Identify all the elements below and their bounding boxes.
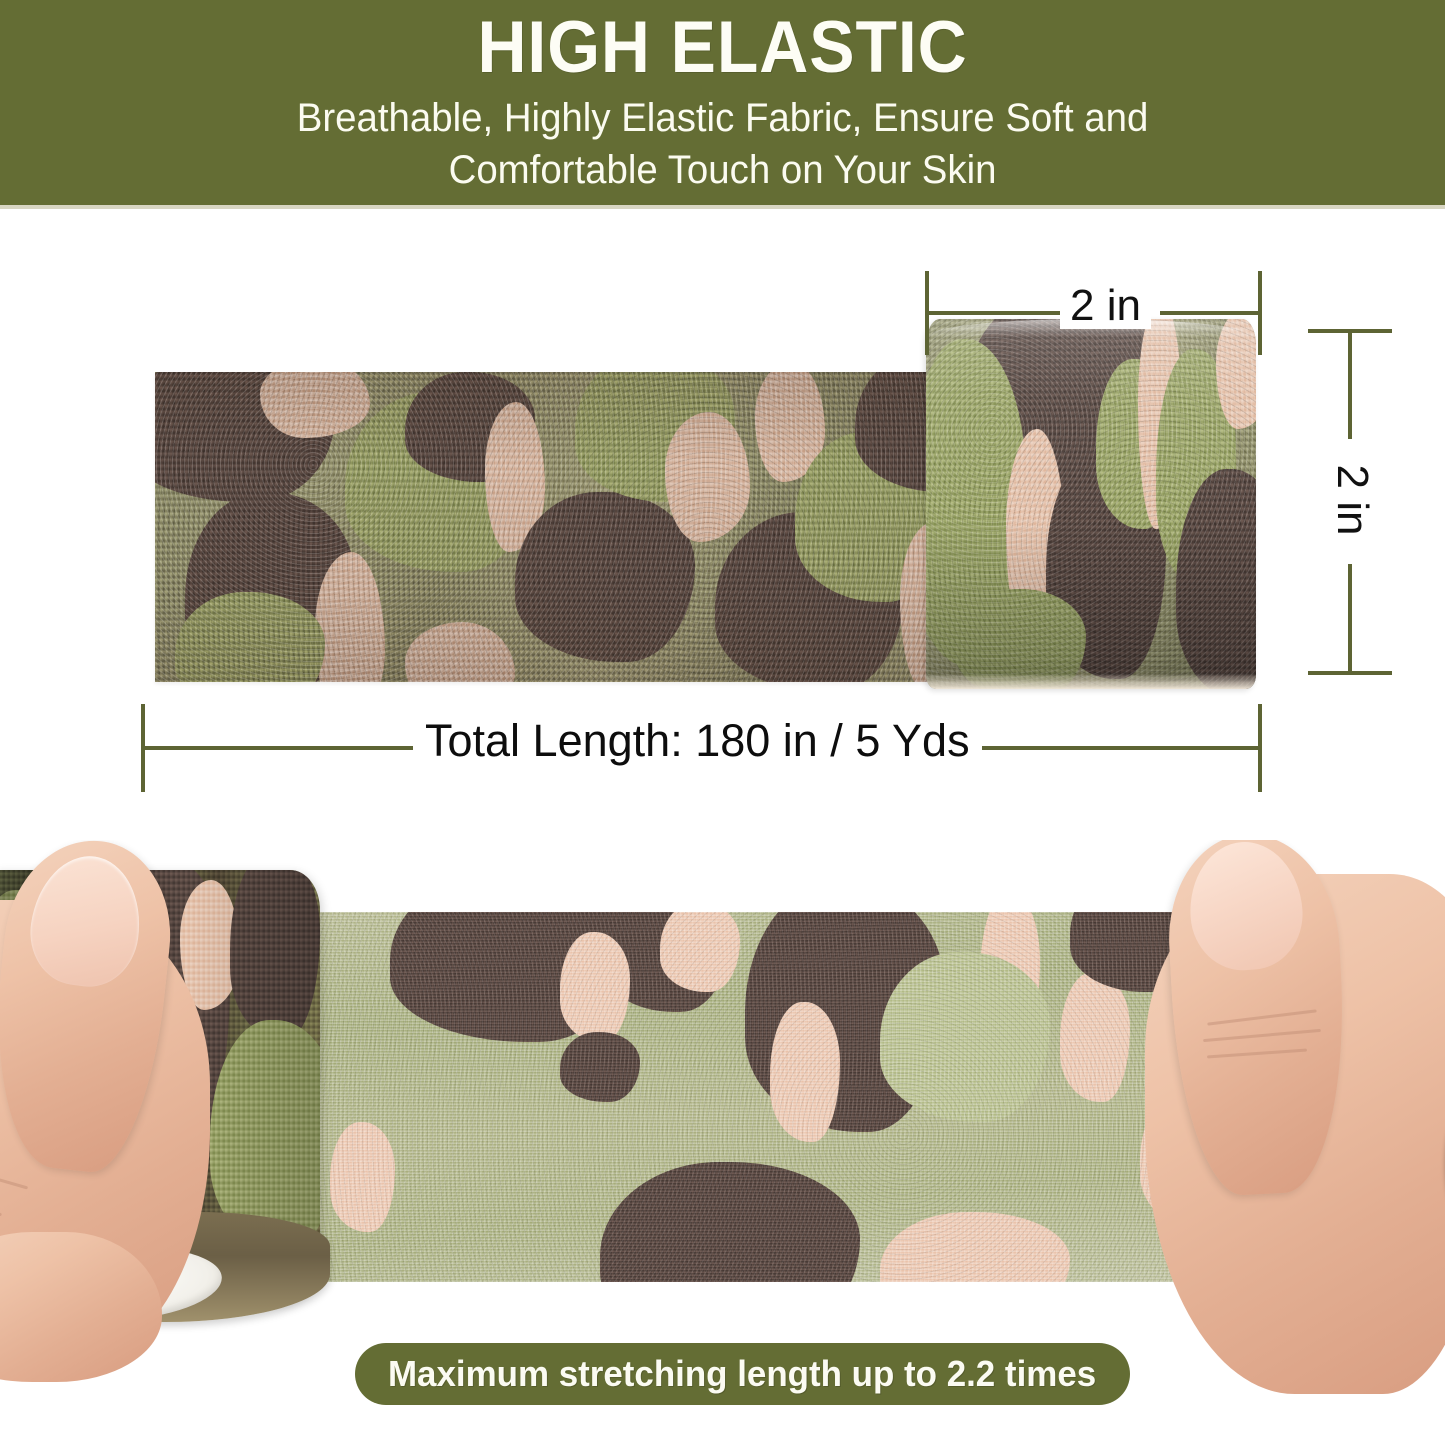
- header-subtitle-line-2: Comfortable Touch on Your Skin: [297, 144, 1149, 196]
- dim-height-line-bottom: [1348, 564, 1352, 674]
- tape-strip-flat: [155, 372, 945, 682]
- infographic-canvas: HIGH ELASTIC Breathable, Highly Elastic …: [0, 0, 1445, 1445]
- dim-width-line-right: [1160, 311, 1262, 315]
- dim-total-line-left: [141, 746, 413, 750]
- dim-height-line-top: [1348, 329, 1352, 439]
- roll-bottom-edge: [926, 673, 1256, 689]
- dim-width-label: 2 in: [1060, 283, 1151, 329]
- stretch-badge-label: Maximum stretching length up to 2.2 time…: [388, 1353, 1096, 1395]
- left-hand: [0, 840, 280, 1360]
- dim-total-line-right: [968, 746, 1262, 750]
- header-subtitle-line-1: Breathable, Highly Elastic Fabric, Ensur…: [297, 92, 1149, 144]
- roll-cylinder-shading: [926, 319, 1256, 689]
- stretch-badge: Maximum stretching length up to 2.2 time…: [355, 1343, 1130, 1405]
- dim-width-line-left: [925, 311, 1060, 315]
- tape-roll: [926, 319, 1256, 689]
- product-photo-top: 2 in 2 in Total Length: 180 in / 5 Yds: [0, 209, 1445, 799]
- dim-total-length-label: Total Length: 180 in / 5 Yds: [413, 718, 982, 764]
- right-hand: [1095, 840, 1445, 1394]
- header-subtitle: Breathable, Highly Elastic Fabric, Ensur…: [297, 92, 1149, 196]
- fabric-grain-texture: [155, 372, 945, 682]
- dim-height-label: 2 in: [1329, 450, 1375, 550]
- page-title: HIGH ELASTIC: [477, 6, 967, 90]
- header-banner: HIGH ELASTIC Breathable, Highly Elastic …: [0, 0, 1445, 205]
